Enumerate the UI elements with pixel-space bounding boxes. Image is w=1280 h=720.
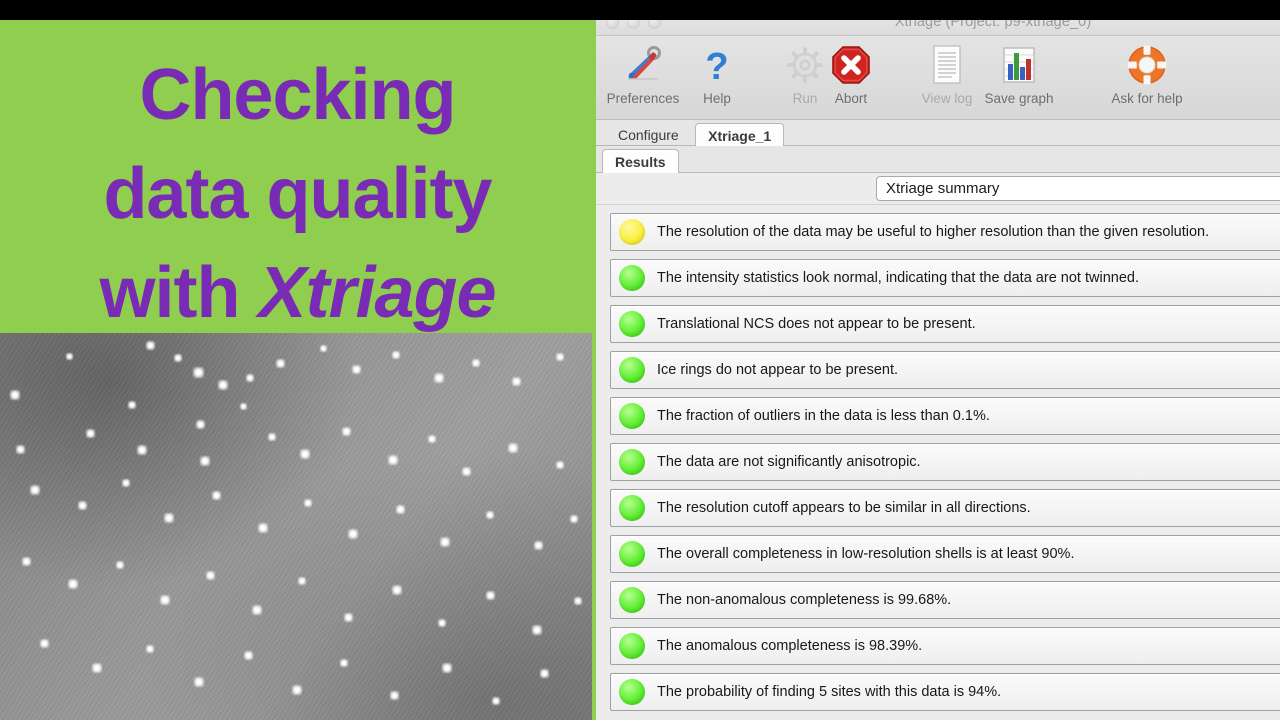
- result-text: The resolution cutoff appears to be simi…: [657, 500, 1031, 516]
- result-text: The overall completeness in low-resoluti…: [657, 546, 1074, 562]
- toolbar-label-help: Help: [674, 91, 760, 106]
- status-indicator-ok: [619, 449, 645, 475]
- result-row[interactable]: The overall completeness in low-resoluti…: [610, 535, 1280, 573]
- result-row[interactable]: The non-anomalous completeness is 99.68%…: [610, 581, 1280, 619]
- result-row[interactable]: The resolution cutoff appears to be simi…: [610, 489, 1280, 527]
- result-row[interactable]: The resolution of the data may be useful…: [610, 213, 1280, 251]
- result-row[interactable]: Ice rings do not appear to be present.: [610, 351, 1280, 389]
- status-indicator-ok: [619, 495, 645, 521]
- result-row[interactable]: Translational NCS does not appear to be …: [610, 305, 1280, 343]
- result-row[interactable]: The data are not significantly anisotrop…: [610, 443, 1280, 481]
- slide-title: Checking data quality with Xtriage: [0, 46, 595, 343]
- toolbar-button-save-graph[interactable]: Save graph: [976, 40, 1062, 106]
- slide-title-emphasis: Xtriage: [258, 253, 495, 333]
- result-text: The intensity statistics look normal, in…: [657, 270, 1139, 286]
- summary-selector[interactable]: Xtriage summary: [876, 176, 1280, 201]
- result-text: The data are not significantly anisotrop…: [657, 454, 921, 470]
- toolbar-button-abort[interactable]: Abort: [808, 40, 894, 106]
- result-text: The non-anomalous completeness is 99.68%…: [657, 592, 951, 608]
- status-indicator-ok: [619, 403, 645, 429]
- result-text: The resolution of the data may be useful…: [657, 224, 1209, 240]
- result-text: Translational NCS does not appear to be …: [657, 316, 976, 332]
- main-toolbar: Preferences ? Help: [596, 36, 1280, 120]
- results-list: The resolution of the data may be useful…: [596, 205, 1280, 718]
- result-text: The anomalous completeness is 98.39%.: [657, 638, 922, 654]
- result-row[interactable]: The anomalous completeness is 98.39%.: [610, 627, 1280, 665]
- status-indicator-ok: [619, 311, 645, 337]
- xtriage-application-window: Xtriage (Project: p9-xtriage_0) Prefe: [596, 10, 1280, 720]
- tab-configure[interactable]: Configure: [606, 123, 691, 148]
- screenshot-root: Checking data quality with Xtriage: [0, 0, 1280, 720]
- status-indicator-ok: [619, 265, 645, 291]
- toolbar-button-ask-for-help[interactable]: Ask for help: [1104, 40, 1190, 106]
- diffraction-image: [0, 333, 595, 720]
- summary-selector-row: Xtriage summary: [596, 173, 1280, 205]
- presentation-slide-panel: Checking data quality with Xtriage: [0, 0, 595, 720]
- status-indicator-ok: [619, 357, 645, 383]
- life-preserver-icon: [1104, 40, 1190, 90]
- result-text: The probability of finding 5 sites with …: [657, 684, 1001, 700]
- slide-title-line-1: Checking: [0, 46, 595, 145]
- svg-text:?: ?: [705, 46, 728, 85]
- secondary-tab-bar: Results: [596, 146, 1280, 173]
- diffraction-noise: [0, 333, 595, 720]
- toolbar-button-help[interactable]: ? Help: [674, 40, 760, 106]
- status-indicator-ok: [619, 633, 645, 659]
- result-row[interactable]: The fraction of outliers in the data is …: [610, 397, 1280, 435]
- toolbar-label-abort: Abort: [808, 91, 894, 106]
- question-mark-icon: ?: [674, 40, 760, 90]
- slide-title-line-3-prefix: with: [99, 253, 258, 333]
- status-indicator-ok: [619, 587, 645, 613]
- result-text: The fraction of outliers in the data is …: [657, 408, 990, 424]
- letterbox-top: [0, 0, 1280, 20]
- result-text: Ice rings do not appear to be present.: [657, 362, 898, 378]
- stop-octagon-icon: [808, 40, 894, 90]
- slide-title-line-3: with Xtriage: [0, 244, 595, 343]
- slide-title-line-2: data quality: [0, 145, 595, 244]
- bar-chart-icon: [976, 40, 1062, 90]
- result-row[interactable]: The intensity statistics look normal, in…: [610, 259, 1280, 297]
- status-indicator-warning: [619, 219, 645, 245]
- tab-results[interactable]: Results: [602, 149, 679, 175]
- slide-title-card: Checking data quality with Xtriage: [0, 20, 595, 333]
- toolbar-label-ask-for-help: Ask for help: [1104, 91, 1190, 106]
- primary-tab-bar: Configure Xtriage_1: [596, 120, 1280, 146]
- toolbar-label-save-graph: Save graph: [976, 91, 1062, 106]
- status-indicator-ok: [619, 679, 645, 705]
- result-row[interactable]: The probability of finding 5 sites with …: [610, 673, 1280, 711]
- status-indicator-ok: [619, 541, 645, 567]
